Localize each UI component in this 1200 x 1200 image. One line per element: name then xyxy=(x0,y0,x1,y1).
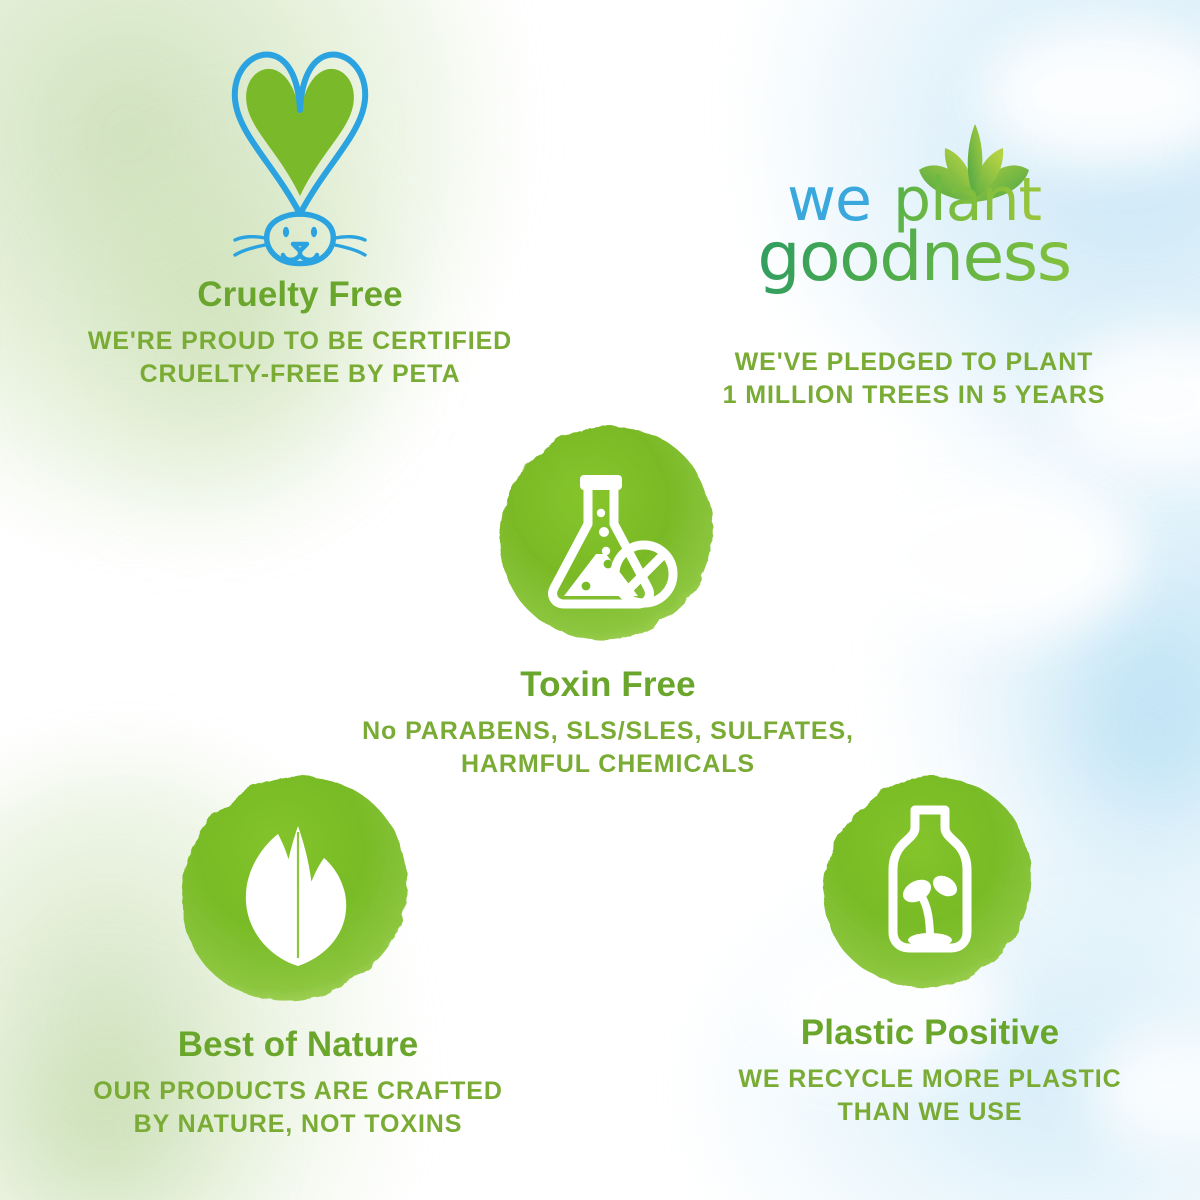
badge-title: Toxin Free xyxy=(348,666,868,705)
badge-description-line-2: BY NATURE, NOT TOXINS xyxy=(134,1110,463,1138)
badge-description-line-1: WE'VE PLEDGED TO PLANT xyxy=(735,348,1094,376)
badge-description-line-1: WE RECYCLE MORE PLASTIC xyxy=(738,1065,1121,1093)
flask-no-icon xyxy=(492,418,724,650)
badges-grid: Cruelty Free WE'RE PROUD TO BE CERTIFIED… xyxy=(0,0,1200,1200)
badge-plastic-positive: Plastic Positive WE RECYCLE MORE PLASTIC… xyxy=(660,768,1200,1129)
badge-title: Cruelty Free xyxy=(20,276,580,315)
logo-word-goodness: goodness xyxy=(757,218,1070,297)
badge-toxin-free: Toxin Free No PARABENS, SLS/SLES, SULFAT… xyxy=(348,418,868,781)
badge-description-line-1: OUR PRODUCTS ARE CRAFTED xyxy=(93,1077,503,1105)
bunny-heart-icon xyxy=(215,36,385,276)
badge-description: WE RECYCLE MORE PLASTIC THAN WE USE xyxy=(660,1063,1200,1129)
badge-description-prefix: No xyxy=(362,717,405,745)
badge-cruelty-free: Cruelty Free WE'RE PROUD TO BE CERTIFIED… xyxy=(20,36,580,391)
toxin-free-icon-slot xyxy=(492,418,724,650)
badge-description-line-1: PARABENS, SLS/SLES, SULFATES, xyxy=(405,717,854,745)
three-leaves-icon xyxy=(176,768,420,1012)
badge-we-plant-goodness: weplant goodness WE'VE PLEDGED TO PLANT … xyxy=(640,128,1188,412)
badge-description-line-2: 1 MILLION TREES IN 5 YEARS xyxy=(723,381,1106,409)
badge-title: Plastic Positive xyxy=(660,1014,1200,1053)
badge-title: Best of Nature xyxy=(28,1026,568,1065)
badge-best-of-nature: Best of Nature OUR PRODUCTS ARE CRAFTED … xyxy=(28,768,568,1141)
cruelty-free-icon-slot xyxy=(20,36,580,276)
badge-description: WE'RE PROUD TO BE CERTIFIED CRUELTY-FREE… xyxy=(20,325,580,391)
badge-description-line-2: CRUELTY-FREE BY PETA xyxy=(140,360,461,388)
logo-line-2: goodness xyxy=(640,224,1188,292)
badge-description: WE'VE PLEDGED TO PLANT 1 MILLION TREES I… xyxy=(640,346,1188,412)
plastic-positive-icon-slot xyxy=(814,768,1046,1000)
we-plant-goodness-logo: weplant goodness xyxy=(640,128,1188,296)
bottle-sprout-icon xyxy=(814,768,1046,1000)
badge-description-line-1: WE'RE PROUD TO BE CERTIFIED xyxy=(88,327,512,355)
badge-description: OUR PRODUCTS ARE CRAFTED BY NATURE, NOT … xyxy=(28,1075,568,1141)
best-of-nature-icon-slot xyxy=(176,768,420,1012)
badge-description-line-2: THAN WE USE xyxy=(838,1098,1023,1126)
